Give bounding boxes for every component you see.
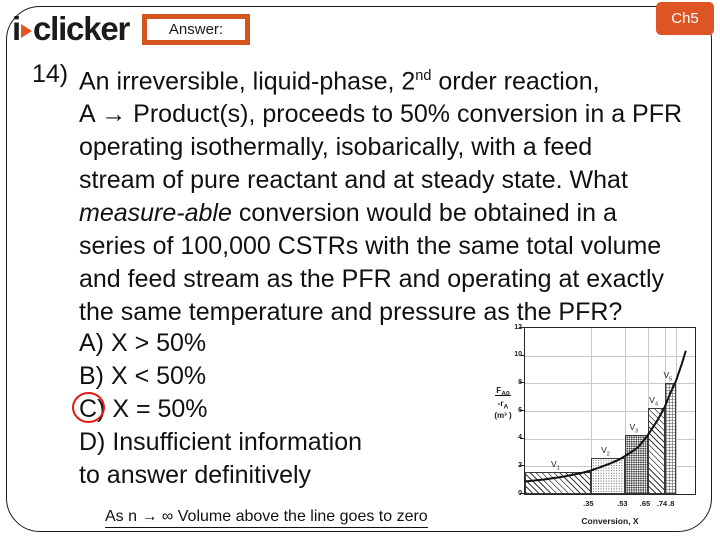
y-tick-label: 12 [506,324,522,331]
x-axis-label: Conversion, X [524,516,696,526]
chapter-badge: Ch5 [656,2,714,35]
chart-bar [648,408,665,494]
play-triangle-icon [21,24,32,38]
levenspiel-plot: FA0 -rA (m³ ) Conversion, X 024681012.35… [486,320,708,535]
bar-label: V1 [551,459,560,472]
y-tick-label: 4 [506,434,522,441]
question-line-5: measure-able conversion would be obtaine… [79,197,699,230]
y-tick-label: 10 [506,351,522,358]
y-axis-label: FA0 -rA (m³ ) [486,386,520,420]
chart-bar [525,472,591,494]
question-line-1: An irreversible, liquid-phase, 2nd order… [79,60,699,98]
logo-word: clicker [33,10,129,48]
iclicker-logo: i clicker [12,10,129,48]
y-gridline [525,356,695,357]
question-line-1-tail: order reaction, [431,67,599,95]
y-tick-label: 2 [506,462,522,469]
slide-canvas: i clicker Answer: Ch5 14) An irreversibl… [0,0,720,540]
choice-a[interactable]: A) X > 50% [79,327,362,360]
bar-label: V3 [629,422,638,435]
bar-label: V5 [663,370,672,383]
footnote-text: As n → ∞ Volume above the line goes to z… [105,508,428,528]
question-line-3: operating isothermally, isobarically, wi… [79,131,699,164]
answer-choices: A) X > 50% B) X < 50% C) X = 50% D) Insu… [79,327,362,492]
question-number: 14) [32,60,68,89]
choice-d[interactable]: D) Insufficient information [79,426,362,459]
y-axis-numerator: FA0 [495,386,510,396]
correct-answer-circle-annotation [72,392,105,423]
chart-bar [665,383,676,494]
answer-box[interactable]: Answer: [142,14,250,45]
y-tick-label: 0 [506,490,522,497]
answer-label: Answer: [169,21,223,38]
question-text: An irreversible, liquid-phase, 2nd order… [79,60,699,329]
chart-bar [625,435,648,494]
italic-emphasis: measure-able [79,199,232,227]
y-tick-label: 6 [506,407,522,414]
bar-label: V2 [601,445,610,458]
question-line-6: series of 100,000 CSTRs with the same to… [79,230,699,263]
chapter-badge-label: Ch5 [671,10,699,27]
x-tick-label: .74 [657,499,667,508]
ordinal-superscript: nd [415,68,431,84]
x-tick-label: .35 [583,499,593,508]
x-tick-label: .8 [668,499,674,508]
bar-label: V4 [649,395,658,408]
x-tick-label: .65 [640,499,650,508]
question-line-5-text: conversion would be obtained in a [239,199,617,227]
chart-bar [591,458,625,494]
choice-b[interactable]: B) X < 50% [79,360,362,393]
question-line-7: and feed stream as the PFR and operating… [79,263,699,296]
choice-c[interactable]: C) X = 50% [79,393,362,426]
y-tick-label: 8 [506,379,522,386]
question-line-4: stream of pure reactant and at steady st… [79,164,699,197]
question-line-1-text: An irreversible, liquid-phase, 2 [79,67,415,95]
x-gridline [676,328,677,494]
plot-area [524,327,696,495]
question-line-2: A → Product(s), proceeds to 50% conversi… [79,98,699,131]
x-tick-label: .53 [617,499,627,508]
logo-letter-i: i [12,10,20,48]
choice-d-continued: to answer definitively [79,459,362,492]
